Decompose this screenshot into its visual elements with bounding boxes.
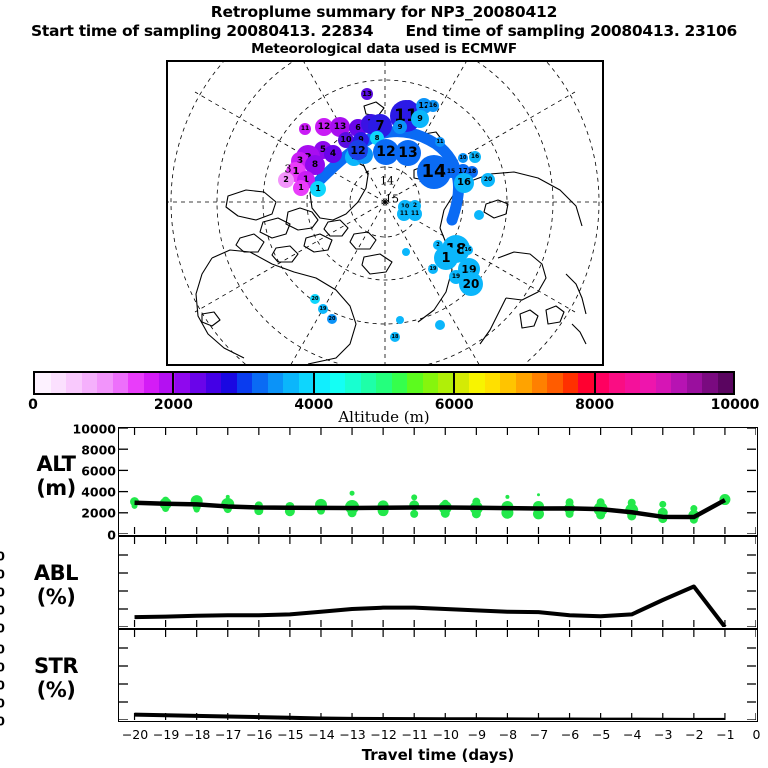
bubble-day-label: 2: [283, 176, 289, 184]
colorbar-swatch: [718, 373, 734, 393]
colorbar-separator: [172, 371, 174, 395]
y-tick-label: 60: [0, 566, 5, 581]
y-tick-label: 20: [0, 602, 5, 617]
retroplume-bubble: 13: [395, 140, 421, 166]
polar-map[interactable]: 1312111216991112136778109542381211193121…: [166, 60, 604, 366]
retroplume-bubble: 18: [390, 332, 400, 342]
y-tick-label: 0: [107, 527, 116, 542]
abl-axis-label: ABL (%): [8, 561, 104, 609]
colorbar-swatch: [392, 373, 408, 393]
bubble-day-label: 15: [447, 169, 455, 175]
alt-scatter-point: [537, 493, 540, 496]
y-tick-label: 0: [0, 620, 5, 635]
x-tick-label: −15: [277, 727, 303, 742]
bubble-day-label: 19: [320, 307, 327, 312]
bubble-day-label: 20: [312, 297, 319, 302]
x-tick-label: −14: [308, 727, 334, 742]
colorbar-swatch: [485, 373, 501, 393]
x-tick-label: −12: [370, 727, 396, 742]
bubble-day-label: 20: [329, 317, 336, 322]
retroplume-bubble: 16: [427, 100, 439, 112]
colorbar-swatch: [625, 373, 641, 393]
bubble-day-label: 13: [334, 123, 347, 132]
retroplume-bubble-layer: 1312111216991112136778109542381211193121…: [168, 62, 602, 364]
retroplume-bubble: [396, 316, 404, 324]
colorbar-swatch: [609, 373, 625, 393]
alt-scatter-point: [410, 510, 418, 518]
retroplume-bubble: 19: [449, 270, 463, 284]
x-tick-label: −16: [246, 727, 272, 742]
y-tick-label: 6000: [81, 463, 116, 478]
retroplume-bubble: 9: [393, 120, 407, 134]
retroplume-bubble: 11: [299, 123, 311, 135]
retroplume-bubble: [402, 248, 410, 256]
x-tick-label: −8: [499, 727, 517, 742]
bubble-day-label: 13: [398, 146, 417, 160]
colorbar-swatch: [97, 373, 113, 393]
x-tick-label: 0: [753, 727, 761, 742]
x-tick-label: −20: [122, 727, 148, 742]
bubble-day-label: 1: [298, 184, 304, 192]
abl-plot: [119, 537, 756, 627]
x-axis-label: Travel time (days): [118, 746, 758, 764]
colorbar-swatch: [268, 373, 284, 393]
retroplume-bubble: 16: [469, 151, 481, 163]
retroplume-bubble: 10: [458, 153, 468, 163]
x-tick-label: −17: [215, 727, 241, 742]
bubble-day-label: 16: [429, 103, 437, 109]
colorbar-swatch: [423, 373, 439, 393]
retroplume-bubble: 1: [310, 181, 326, 197]
map-graticule-label: 14: [380, 175, 394, 188]
y-tick-label: 60: [0, 659, 5, 674]
colorbar-swatch: [516, 373, 532, 393]
retroplume-bubble: 11: [435, 137, 445, 147]
colorbar[interactable]: 0200040006000800010000: [33, 371, 735, 395]
colorbar-gradient: [33, 371, 735, 395]
sampling-times: Start time of sampling 20080413. 22834 E…: [0, 22, 768, 41]
x-tick-label: −6: [561, 727, 579, 742]
y-tick-label: 8000: [81, 442, 116, 457]
bubble-day-label: 12: [376, 145, 395, 159]
bubble-day-label: 4: [330, 150, 336, 159]
colorbar-swatch: [345, 373, 361, 393]
colorbar-swatch: [113, 373, 129, 393]
x-tick-label: −11: [401, 727, 427, 742]
y-tick-label: 0: [0, 713, 5, 728]
alt-scatter-point: [194, 507, 200, 513]
retroplume-bubble: 13: [361, 88, 373, 100]
title-block: Retroplume summary for NP3_20080412 Star…: [0, 0, 768, 57]
alt-scatter-point: [411, 494, 417, 500]
colorbar-swatch: [438, 373, 454, 393]
x-tick-label: −7: [530, 727, 548, 742]
alt-scatter-point: [566, 510, 574, 518]
trend-line: [135, 587, 725, 628]
colorbar-swatch: [500, 373, 516, 393]
colorbar-swatch: [532, 373, 548, 393]
retroplume-bubble: 16: [454, 173, 474, 193]
colorbar-swatch: [547, 373, 563, 393]
map-graticule-label: 3: [285, 163, 292, 176]
alt-scatter-point: [505, 495, 509, 499]
y-tick-label: 4000: [81, 485, 116, 500]
x-tick-label: −10: [433, 727, 459, 742]
colorbar-swatch: [283, 373, 299, 393]
colorbar-swatch: [454, 373, 470, 393]
retroplume-bubble: 1: [293, 180, 309, 196]
bubble-day-label: 10: [460, 156, 467, 161]
bubble-day-label: 16: [471, 154, 479, 160]
alt-plot-panel[interactable]: [118, 427, 758, 536]
colorbar-swatch: [361, 373, 377, 393]
x-tick-label: −19: [153, 727, 179, 742]
str-axis-label: STR (%): [8, 654, 104, 702]
bubble-day-label: 18: [392, 335, 399, 340]
y-tick-label: 40: [0, 677, 5, 692]
colorbar-swatch: [144, 373, 160, 393]
alt-plot: [119, 428, 756, 534]
bubble-day-label: 16: [457, 178, 471, 188]
colorbar-swatch: [671, 373, 687, 393]
bubble-day-label: 1: [315, 185, 321, 193]
colorbar-separator: [453, 371, 455, 395]
colorbar-swatch: [702, 373, 718, 393]
x-tick-label: −9: [468, 727, 486, 742]
retroplume-bubble: 11: [408, 207, 422, 221]
colorbar-swatch: [66, 373, 82, 393]
colorbar-swatch: [206, 373, 222, 393]
x-tick-label: −3: [654, 727, 672, 742]
x-tick-label: −4: [623, 727, 641, 742]
bubble-day-label: 9: [417, 115, 423, 123]
met-data-label: Meteorological data used is ECMWF: [0, 41, 768, 57]
alt-scatter-point: [659, 501, 666, 508]
bubble-day-label: 19: [430, 267, 437, 272]
page-title: Retroplume summary for NP3_20080412: [0, 3, 768, 22]
colorbar-swatch: [314, 373, 330, 393]
colorbar-swatch: [376, 373, 392, 393]
x-tick-label: −5: [592, 727, 610, 742]
x-tick-label: −18: [184, 727, 210, 742]
alt-scatter-point: [596, 510, 605, 519]
bubble-day-label: 19: [452, 274, 460, 280]
bubble-day-label: 12: [350, 145, 365, 156]
alt-scatter-point: [441, 509, 450, 518]
y-tick-label: 10000: [73, 421, 117, 436]
retroplume-bubble: 16: [463, 245, 473, 255]
bubble-day-label: 12: [318, 123, 331, 132]
x-tick-label: −13: [339, 727, 365, 742]
colorbar-swatch: [469, 373, 485, 393]
trend-line: [135, 715, 725, 720]
colorbar-swatch: [190, 373, 206, 393]
colorbar-swatch: [128, 373, 144, 393]
y-tick-label: 80: [0, 548, 5, 563]
retroplume-bubble: 2: [433, 240, 443, 250]
end-time-label: End time of sampling 20080413. 23106: [405, 22, 736, 40]
start-time-label: Start time of sampling 20080413. 22834: [31, 22, 373, 40]
alt-scatter-point: [162, 505, 169, 512]
bubble-day-label: 11: [411, 211, 419, 217]
bubble-day-label: 1: [441, 252, 450, 265]
bubble-day-label: 16: [465, 248, 472, 253]
x-tick-label: −2: [685, 727, 703, 742]
map-graticule-label: 15: [385, 193, 399, 206]
colorbar-separator: [313, 371, 315, 395]
colorbar-swatch: [237, 373, 253, 393]
str-plot-panel[interactable]: [118, 629, 758, 722]
alt-scatter-point: [350, 491, 355, 496]
retroplume-bubble: 20: [327, 314, 337, 324]
colorbar-swatch: [563, 373, 579, 393]
retroplume-bubble: 19: [428, 264, 438, 274]
colorbar-swatch: [221, 373, 237, 393]
bubble-day-label: 8: [312, 161, 318, 170]
retroplume-bubble: 12: [348, 140, 368, 160]
y-tick-label: 40: [0, 584, 5, 599]
retroplume-bubble: [474, 210, 484, 220]
y-tick-label: 2000: [81, 506, 116, 521]
colorbar-swatch: [35, 373, 51, 393]
colorbar-swatch: [51, 373, 67, 393]
colorbar-swatch: [330, 373, 346, 393]
retroplume-bubble: 20: [481, 173, 495, 187]
bubble-day-label: 11: [301, 126, 309, 132]
y-tick-label: 20: [0, 695, 5, 710]
retroplume-bubble: 4: [324, 145, 342, 163]
x-tick-label: −1: [716, 727, 734, 742]
retroplume-bubble: 20: [310, 294, 320, 304]
colorbar-swatch: [656, 373, 672, 393]
colorbar-swatch: [594, 373, 610, 393]
bubble-day-label: 11: [400, 211, 408, 217]
colorbar-swatch: [252, 373, 268, 393]
retroplume-bubble: 9: [411, 110, 429, 128]
y-tick-label: 80: [0, 641, 5, 656]
bubble-day-label: 9: [398, 124, 403, 131]
abl-plot-panel[interactable]: [118, 536, 758, 629]
bubble-day-label: 11: [437, 140, 444, 145]
retroplume-bubble: 19: [318, 304, 328, 314]
bubble-day-label: 6: [355, 124, 361, 132]
bubble-day-label: 2: [436, 243, 439, 248]
colorbar-swatch: [640, 373, 656, 393]
retroplume-bubble: [435, 320, 445, 330]
bubble-day-label: 14: [421, 163, 446, 181]
colorbar-swatch: [578, 373, 594, 393]
bubble-day-label: 13: [362, 91, 372, 98]
colorbar-swatch: [407, 373, 423, 393]
str-plot: [119, 630, 756, 720]
alt-scatter-point: [472, 509, 481, 518]
bubble-day-label: 20: [484, 177, 492, 183]
colorbar-swatch: [687, 373, 703, 393]
colorbar-swatch: [175, 373, 191, 393]
colorbar-separator: [594, 371, 596, 395]
colorbar-swatch: [82, 373, 98, 393]
bubble-day-label: 20: [463, 278, 480, 290]
